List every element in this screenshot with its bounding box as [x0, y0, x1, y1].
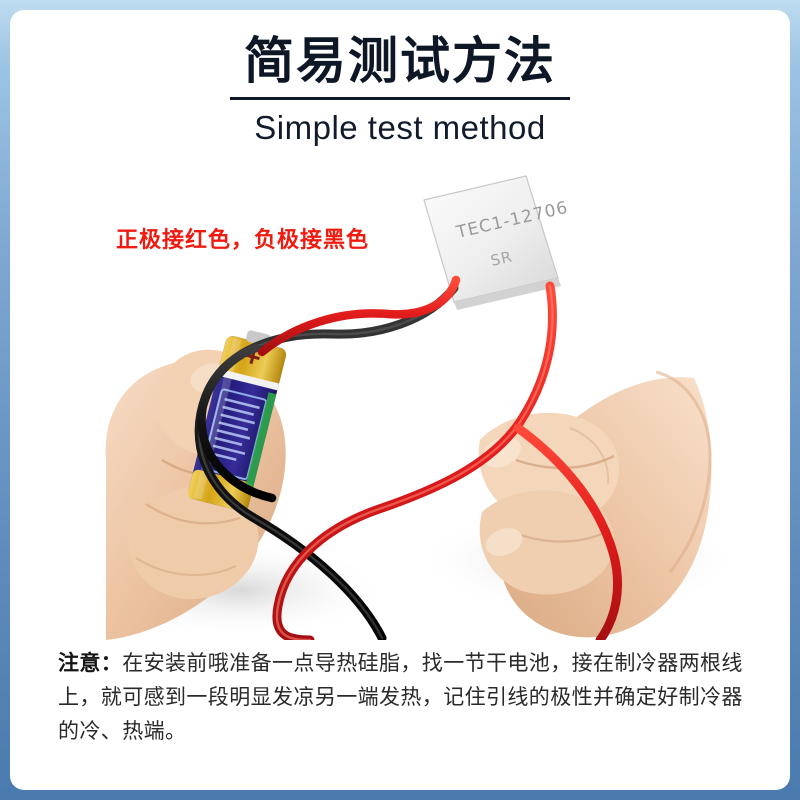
note-body: 在安装前哦准备一点导热硅脂，找一节干电池，接在制冷器两根线上，就可感到一段明显发… — [58, 651, 743, 743]
page-title-chinese: 简易测试方法 — [10, 10, 790, 91]
content-card: 简易测试方法 Simple test method — [10, 10, 790, 790]
page-header: 简易测试方法 Simple test method — [10, 10, 790, 148]
polarity-annotation: 正极接红色，负极接黑色 — [116, 222, 369, 254]
page-frame: 简易测试方法 Simple test method — [0, 0, 800, 800]
page-subtitle-english: Simple test method — [10, 100, 790, 148]
note-label: 注意： — [58, 651, 122, 675]
bottom-note: 注意：在安装前哦准备一点导热硅脂，找一节干电池，接在制冷器两根线上，就可感到一段… — [58, 646, 758, 748]
